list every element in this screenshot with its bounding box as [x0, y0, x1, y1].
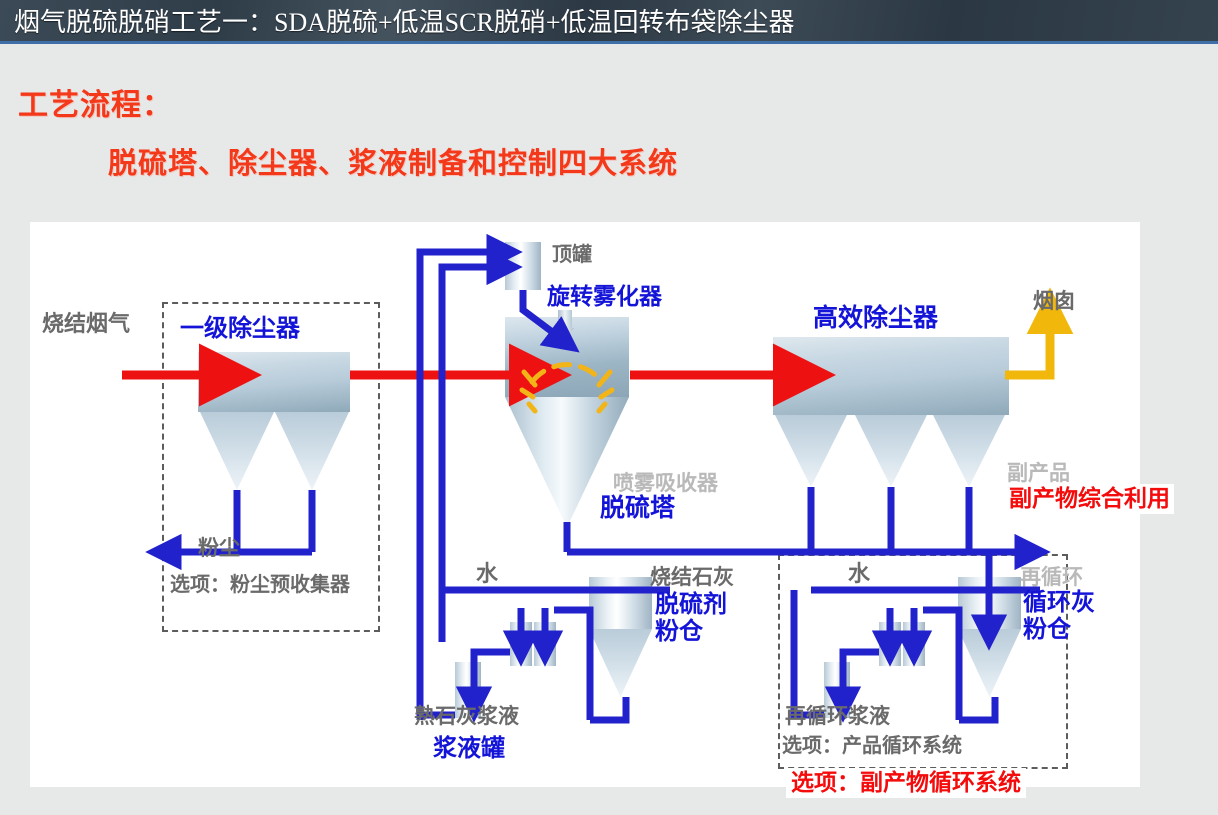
title-bar: 烟气脱硫脱硝工艺一：SDA脱硫+低温SCR脱硝+低温回转布袋除尘器 [0, 0, 1218, 44]
process-flow-diagram: 烧结烟气 一级除尘器 粉尘 选项：粉尘预收集器 顶罐 旋转雾化器 喷雾吸收器 脱… [30, 222, 1140, 787]
label-calcined-lime: 烧结石灰 [650, 566, 734, 590]
label-high-efficiency-collector: 高效除尘器 [813, 304, 938, 332]
label-water-right: 水 [848, 562, 870, 587]
label-desulfurization-tower: 脱硫塔 [600, 494, 675, 522]
label-recycle-ash-silo-line1: 循环灰 [1023, 590, 1095, 617]
label-dust: 粉尘 [198, 537, 240, 561]
label-desulfurizer-silo-line2: 粉仓 [655, 619, 727, 646]
label-slurry-tank: 浆液罐 [433, 736, 505, 763]
title-bar-text: 烟气脱硫脱硝工艺一：SDA脱硫+低温SCR脱硝+低温回转布袋除尘器 [0, 2, 794, 39]
label-chimney: 烟囱 [1033, 290, 1075, 314]
label-recycle-faint: 再循环 [1020, 566, 1083, 590]
page-title: 工艺流程： [18, 80, 173, 124]
page-subtitle: 脱硫塔、除尘器、浆液制备和控制四大系统 [108, 140, 678, 182]
label-inlet-gas: 烧结烟气 [42, 312, 130, 337]
label-desulfurizer-silo: 脱硫剂 粉仓 [655, 592, 727, 646]
label-recycle-ash-silo-line2: 粉仓 [1023, 617, 1095, 644]
label-spray-absorber: 喷雾吸收器 [613, 472, 718, 496]
label-recycle-slurry: 再循环浆液 [785, 705, 890, 729]
diagram-stage: 烧结烟气 一级除尘器 粉尘 选项：粉尘预收集器 顶罐 旋转雾化器 喷雾吸收器 脱… [30, 222, 1140, 787]
label-option-pre-collector: 选项：粉尘预收集器 [170, 574, 350, 596]
label-water-left: 水 [476, 562, 498, 587]
stack-gas-line [1005, 327, 1050, 375]
label-byproduct-utilization: 副产物综合利用 [1005, 484, 1174, 514]
label-slaked-lime-slurry: 熟石灰浆液 [414, 705, 519, 729]
label-recycle-ash-silo: 循环灰 粉仓 [1023, 590, 1095, 644]
label-desulfurizer-silo-line1: 脱硫剂 [655, 592, 727, 619]
label-top-tank: 顶罐 [552, 244, 592, 266]
label-byproduct-faint: 副产品 [1007, 462, 1070, 486]
spray-pattern [522, 365, 612, 411]
label-rotary-atomizer: 旋转雾化器 [547, 284, 662, 310]
label-primary-dust-collector: 一级除尘器 [180, 316, 300, 343]
label-option-product-recycle: 选项：产品循环系统 [782, 735, 962, 757]
label-option-byproduct-recycle: 选项：副产物循环系统 [786, 768, 1026, 798]
